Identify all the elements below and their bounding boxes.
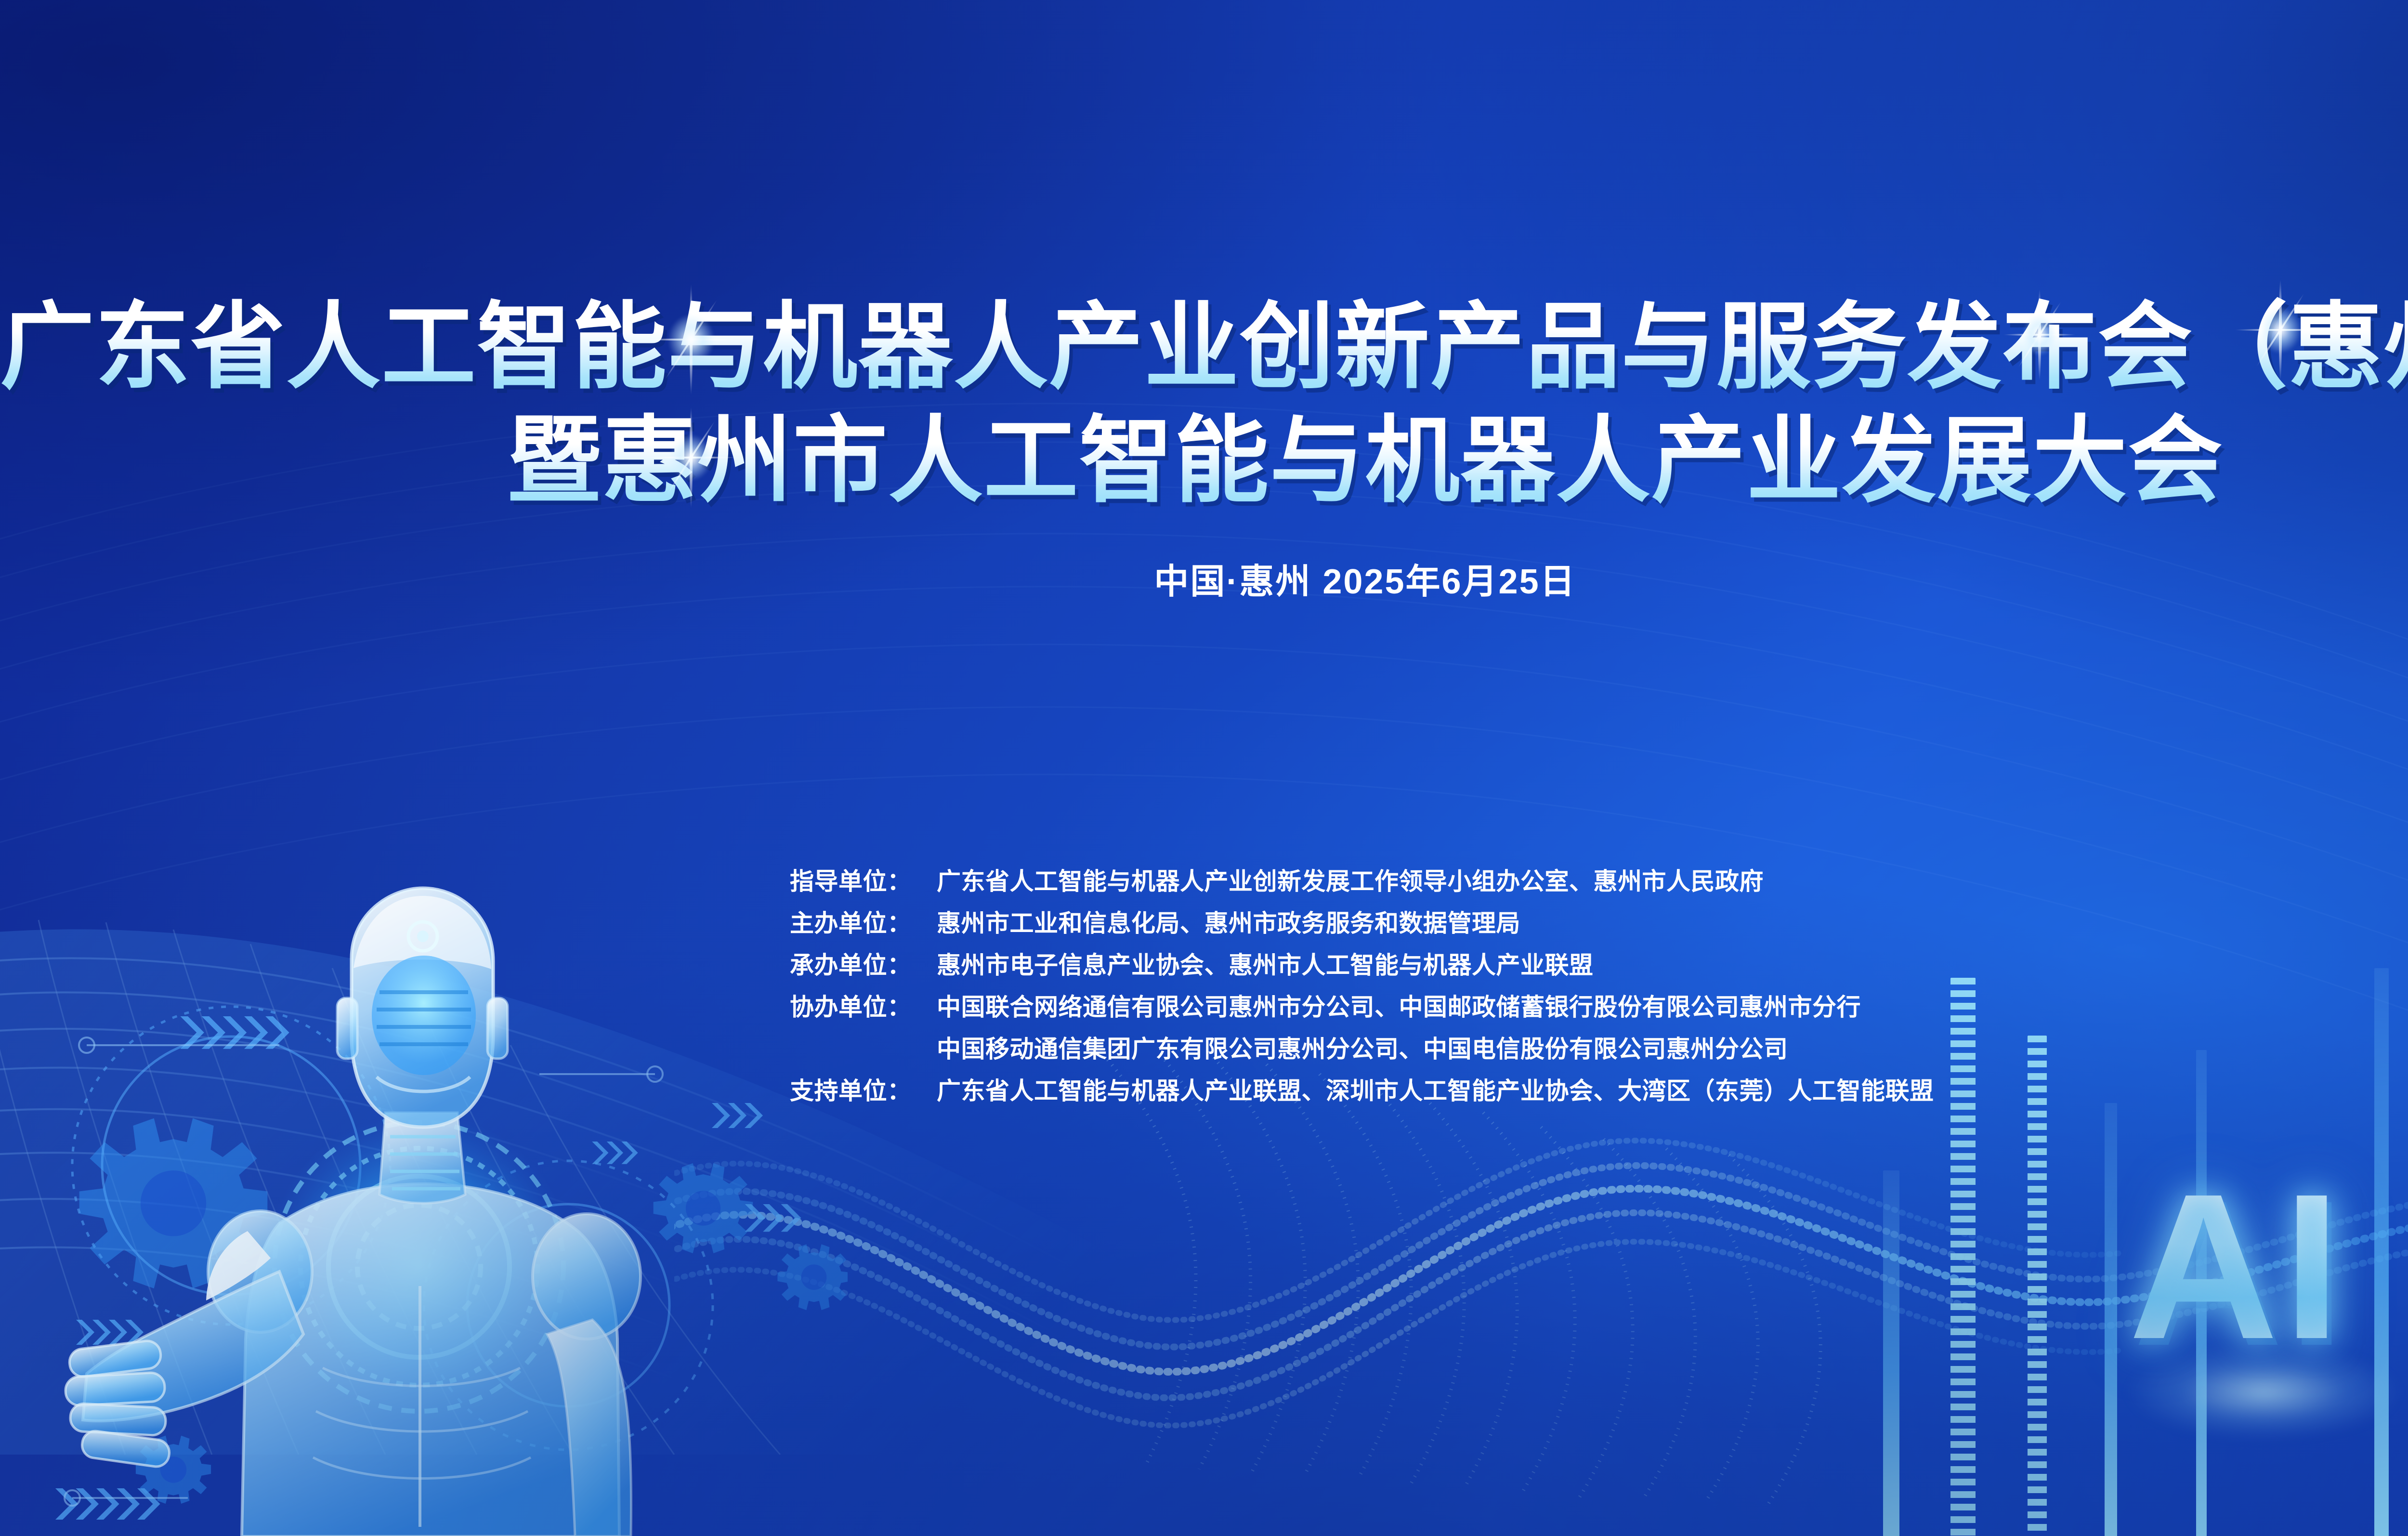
organizer-label: 协办单位： (790, 995, 937, 1019)
organizer-value: 广东省人工智能与机器人产业联盟、深圳市人工智能产业协会、大湾区（东莞）人工智能联… (937, 1079, 1934, 1103)
event-location-date: 中国·惠州 2025年6月25日 (0, 559, 2408, 605)
conference-banner: AI (0, 0, 2408, 1536)
organizer-label: 指导单位： (790, 869, 937, 893)
organizer-label: 支持单位： (790, 1079, 937, 1103)
organizer-value: 中国移动通信集团广东有限公司惠州分公司、中国电信股份有限公司惠州分公司 (937, 1037, 1788, 1061)
organizer-value: 惠州市电子信息产业协会、惠州市人工智能与机器人产业联盟 (937, 953, 1594, 977)
organizer-label: 承办单位： (790, 953, 937, 977)
organizer-value: 惠州市工业和信息化局、惠州市政务服务和数据管理局 (937, 911, 1520, 935)
organizer-row: 支持单位：广东省人工智能与机器人产业联盟、深圳市人工智能产业协会、大湾区（东莞）… (790, 1079, 1934, 1103)
banner-title-block: 广东省人工智能与机器人产业创新产品与服务发布会（惠州专场） 暨惠州市人工智能与机… (0, 294, 2408, 514)
title-line-1: 广东省人工智能与机器人产业创新产品与服务发布会（惠州专场） (0, 294, 2408, 401)
organizer-row: 协办单位：中国移动通信集团广东有限公司惠州分公司、中国电信股份有限公司惠州分公司 (790, 1037, 1934, 1061)
organizer-row: 主办单位：惠州市工业和信息化局、惠州市政务服务和数据管理局 (790, 911, 1934, 935)
organizer-value: 广东省人工智能与机器人产业创新发展工作领导小组办公室、惠州市人民政府 (937, 869, 1764, 893)
organizer-row: 承办单位：惠州市电子信息产业协会、惠州市人工智能与机器人产业联盟 (790, 953, 1934, 977)
organizer-row: 指导单位：广东省人工智能与机器人产业创新发展工作领导小组办公室、惠州市人民政府 (790, 869, 1934, 893)
organizer-label: 主办单位： (790, 911, 937, 935)
organizer-row: 协办单位：中国联合网络通信有限公司惠州市分公司、中国邮政储蓄银行股份有限公司惠州… (790, 995, 1934, 1019)
title-line-2: 暨惠州市人工智能与机器人产业发展大会 (0, 407, 2408, 514)
organizer-value: 中国联合网络通信有限公司惠州市分公司、中国邮政储蓄银行股份有限公司惠州市分行 (937, 995, 1861, 1019)
organizer-list: 指导单位：广东省人工智能与机器人产业创新发展工作领导小组办公室、惠州市人民政府主… (790, 869, 1934, 1103)
